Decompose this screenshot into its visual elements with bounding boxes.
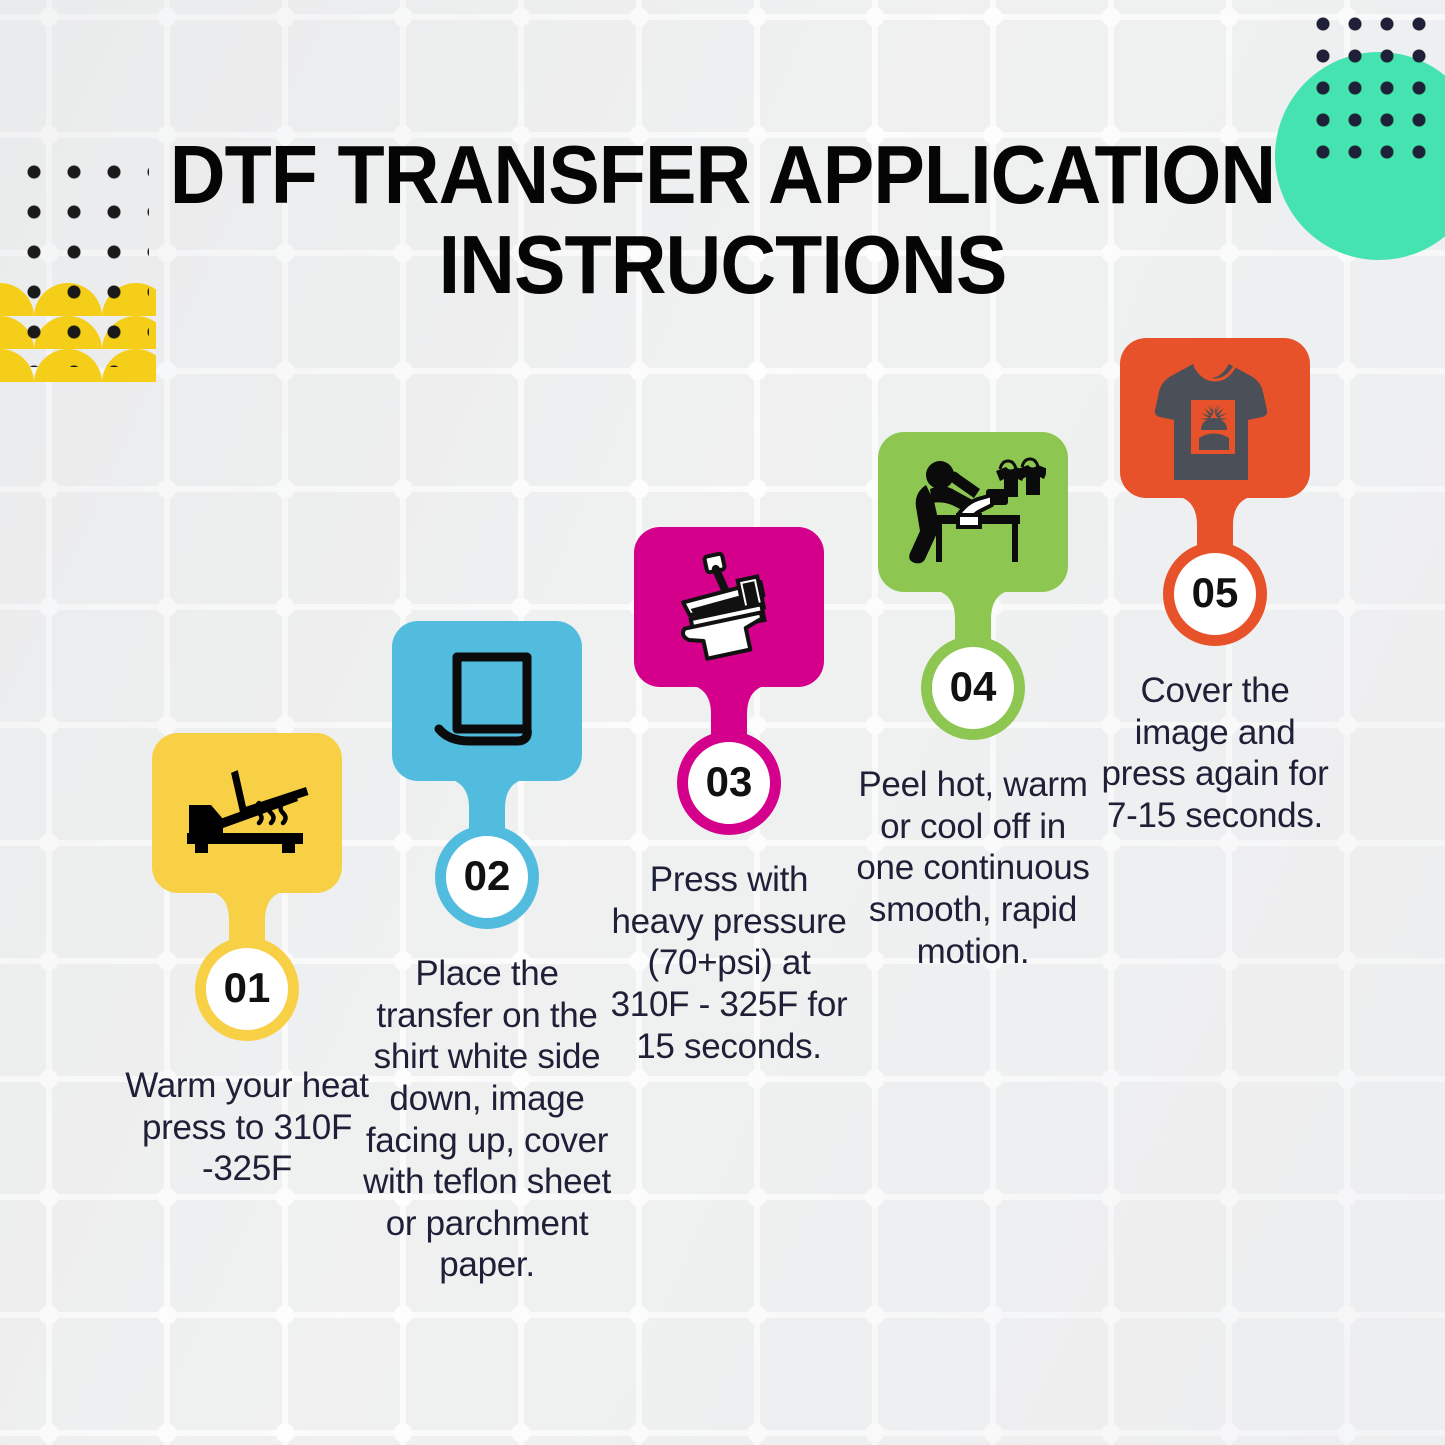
peel-transfer-person-icon — [900, 451, 1046, 573]
step-01-badge: 01 — [195, 937, 299, 1041]
transfer-sheet-icon — [431, 648, 543, 754]
step-01: 01 Warm your heat press to 310F -325F — [122, 733, 372, 1190]
step-04-icon-card — [878, 432, 1068, 592]
step-04-badge: 04 — [921, 636, 1025, 740]
step-05-number: 05 — [1192, 569, 1239, 617]
step-05-badge: 05 — [1163, 542, 1267, 646]
step-01-number: 01 — [224, 964, 271, 1012]
heat-press-machine-icon — [669, 547, 789, 667]
step-02-number: 02 — [464, 852, 511, 900]
step-04: 04 Peel hot, warm or cool off in one con… — [848, 432, 1098, 972]
heat-press-open-icon — [183, 761, 311, 865]
step-01-icon-card — [152, 733, 342, 893]
printed-tshirt-icon — [1149, 356, 1281, 480]
step-02-icon-card — [392, 621, 582, 781]
step-03-icon-card-wrap: 03 Press with heavy pressure (70+psi) at… — [604, 527, 854, 1067]
page-title-line-2: INSTRUCTIONS — [51, 220, 1395, 310]
step-02: 02 Place the transfer on the shirt white… — [362, 621, 612, 1286]
step-02-description: Place the transfer on the shirt white si… — [362, 953, 612, 1286]
step-05: 05 Cover the image and press again for 7… — [1090, 338, 1340, 837]
step-03-description: Press with heavy pressure (70+psi) at 31… — [604, 859, 854, 1067]
step-05-description: Cover the image and press again for 7-15… — [1090, 670, 1340, 837]
step-03-icon-card — [634, 527, 824, 687]
step-04-number: 04 — [950, 663, 997, 711]
step-01-description: Warm your heat press to 310F -325F — [122, 1065, 372, 1190]
step-03-badge: 03 — [677, 731, 781, 835]
page-title-line-1: DTF TRANSFER APPLICATION — [51, 130, 1395, 220]
step-04-description: Peel hot, warm or cool off in one contin… — [848, 764, 1098, 972]
step-05-icon-card — [1120, 338, 1310, 498]
step-03-number: 03 — [706, 758, 753, 806]
page-title: DTF TRANSFER APPLICATION INSTRUCTIONS — [0, 130, 1445, 309]
step-02-badge: 02 — [435, 825, 539, 929]
